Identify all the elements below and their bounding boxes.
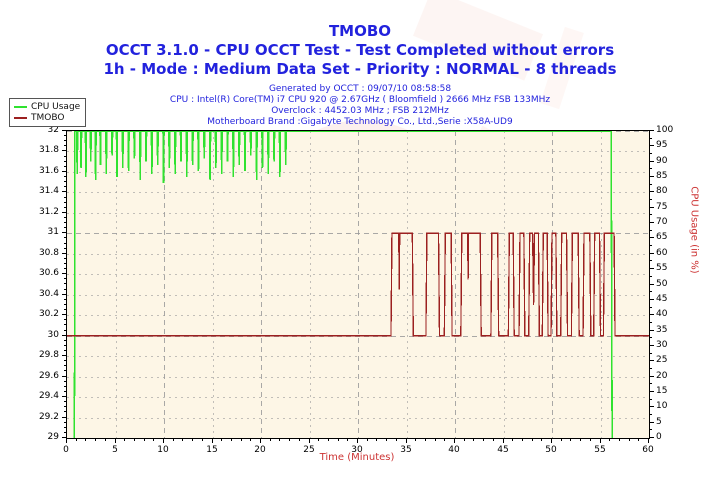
axis-tick-mark [650, 130, 652, 131]
axis-tick-mark [134, 439, 135, 441]
axis-tick-mark [64, 171, 66, 172]
axis-tick-mark [64, 324, 66, 325]
axis-tick-mark [650, 214, 652, 215]
axis-tick-mark [64, 263, 66, 264]
axis-tick-mark [570, 439, 571, 441]
axis-tick-mark [64, 386, 66, 387]
axis-tick-mark [64, 314, 66, 315]
axis-tick-mark [64, 227, 66, 228]
axis-tick-mark [650, 345, 652, 346]
x-axis-tick-label: 20 [254, 445, 265, 455]
axis-tick-mark [650, 307, 652, 308]
axis-tick-mark [650, 199, 652, 200]
axis-tick-mark [64, 406, 66, 407]
y-axis-right-tick-label: 95 [656, 140, 667, 150]
y-axis-left-tick-label: 31.4 [39, 186, 59, 196]
y-axis-right-tick-label: 5 [656, 417, 662, 427]
axis-tick-mark [650, 322, 652, 323]
axis-tick-mark [64, 253, 66, 254]
axis-tick-mark [64, 335, 66, 336]
axis-tick-mark [64, 391, 66, 392]
axis-tick-mark [144, 439, 145, 441]
axis-tick-mark [64, 299, 66, 300]
axis-tick-mark [192, 439, 193, 441]
axis-tick-mark [522, 439, 523, 441]
axis-tick-mark [64, 340, 66, 341]
axis-tick-mark [328, 439, 329, 441]
axis-tick-mark [153, 439, 154, 441]
axis-tick-mark [250, 439, 251, 441]
axis-tick-mark [64, 381, 66, 382]
axis-tick-mark [64, 411, 66, 412]
axis-tick-mark [279, 439, 280, 441]
y-axis-left-tick-label: 29.6 [39, 371, 59, 381]
axis-tick-mark [493, 439, 494, 441]
axis-tick-mark [64, 360, 66, 361]
axis-tick-mark [650, 360, 652, 361]
axis-tick-mark [650, 406, 652, 407]
axis-tick-mark [386, 439, 387, 441]
y-axis-left-tick-label: 30.4 [39, 289, 59, 299]
axis-tick-mark [376, 439, 377, 441]
y-axis-right-tick-label: 45 [656, 294, 667, 304]
axis-tick-mark [64, 130, 66, 131]
y-axis-left-tick-label: 29.4 [39, 391, 59, 401]
axis-tick-mark [241, 439, 242, 441]
report-subtitle-line2: 1h - Mode : Medium Data Set - Priority :… [0, 60, 720, 78]
axis-tick-mark [270, 439, 271, 441]
axis-tick-mark [64, 191, 66, 192]
axis-tick-mark [182, 439, 183, 441]
axis-tick-mark [64, 140, 66, 141]
axis-tick-mark [105, 439, 106, 441]
x-axis-tick-label: 5 [112, 445, 118, 455]
axis-tick-mark [64, 319, 66, 320]
legend-swatch-icon [14, 117, 27, 119]
x-axis-tick-label: 35 [400, 445, 411, 455]
axis-tick-mark [561, 439, 562, 441]
axis-tick-mark [124, 439, 125, 441]
axis-tick-mark [650, 253, 652, 254]
axis-tick-mark [64, 289, 66, 290]
y-axis-left-tick-label: 29.8 [39, 350, 59, 360]
x-axis-tick-label: 40 [448, 445, 459, 455]
legend-item-cpu-usage: CPU Usage [14, 101, 80, 112]
axis-tick-mark [64, 376, 66, 377]
y-axis-left-tick-label: 31.6 [39, 166, 59, 176]
axis-tick-mark [619, 439, 620, 441]
axis-tick-mark [551, 439, 552, 441]
axis-tick-mark [648, 439, 649, 441]
axis-tick-mark [425, 439, 426, 441]
axis-tick-mark [64, 309, 66, 310]
y-axis-left-tick-label: 31 [48, 227, 59, 237]
axis-tick-mark [650, 429, 652, 430]
y-axis-right-tick-label: 55 [656, 263, 667, 273]
axis-tick-mark [650, 414, 652, 415]
axis-tick-mark [64, 350, 66, 351]
y-axis-left-tick-label: 30 [48, 330, 59, 340]
axis-tick-mark [64, 181, 66, 182]
axis-tick-mark [202, 439, 203, 441]
axis-tick-mark [650, 168, 652, 169]
axis-tick-mark [64, 427, 66, 428]
axis-tick-mark [64, 417, 66, 418]
axis-tick-mark [64, 156, 66, 157]
axis-tick-mark [435, 439, 436, 441]
axis-tick-mark [64, 202, 66, 203]
motherboard-info: Motherboard Brand :Gigabyte Technology C… [0, 117, 720, 127]
axis-tick-mark [650, 399, 652, 400]
axis-tick-mark [318, 439, 319, 441]
axis-tick-mark [650, 337, 652, 338]
axis-tick-mark [609, 439, 610, 441]
axis-tick-mark [650, 161, 652, 162]
y-axis-left-tick-label: 30.8 [39, 248, 59, 258]
axis-tick-mark [444, 439, 445, 441]
axis-tick-mark [64, 432, 66, 433]
axis-tick-mark [454, 439, 455, 441]
axis-tick-mark [650, 145, 652, 146]
axis-tick-mark [650, 191, 652, 192]
chart-plot-area [66, 130, 650, 439]
axis-tick-mark [64, 150, 66, 151]
y-axis-right-tick-label: 10 [656, 401, 667, 411]
axis-tick-mark [464, 439, 465, 441]
axis-tick-mark [64, 176, 66, 177]
y-axis-right-tick-label: 40 [656, 309, 667, 319]
axis-tick-mark [650, 138, 652, 139]
axis-tick-mark [163, 439, 164, 441]
chart-legend: CPU Usage TMOBO [9, 98, 86, 127]
y-axis-left-tick-label: 29 [48, 432, 59, 442]
x-axis-tick-label: 55 [594, 445, 605, 455]
y-axis-right-tick-label: 30 [656, 340, 667, 350]
axis-tick-mark [650, 176, 652, 177]
axis-tick-mark [650, 330, 652, 331]
axis-tick-mark [289, 439, 290, 441]
y-axis-right-tick-label: 50 [656, 279, 667, 289]
axis-tick-mark [64, 232, 66, 233]
axis-tick-mark [64, 197, 66, 198]
y-axis-right-tick-label: 20 [656, 371, 667, 381]
axis-tick-mark [367, 439, 368, 441]
x-axis-tick-label: 0 [63, 445, 69, 455]
axis-tick-mark [650, 245, 652, 246]
y-axis-right-tick-label: 65 [656, 232, 667, 242]
y-axis-right-tick-label: 90 [656, 156, 667, 166]
axis-tick-mark [231, 439, 232, 441]
y-axis-right-tick-label: 35 [656, 325, 667, 335]
axis-tick-mark [650, 368, 652, 369]
y-axis-right-tick-label: 75 [656, 202, 667, 212]
axis-tick-mark [64, 217, 66, 218]
legend-label: TMOBO [31, 113, 64, 123]
axis-tick-mark [64, 212, 66, 213]
axis-tick-mark [650, 237, 652, 238]
axis-tick-mark [64, 283, 66, 284]
axis-tick-mark [64, 135, 66, 136]
x-axis-tick-label: 60 [642, 445, 653, 455]
report-subtitle-line1: OCCT 3.1.0 - CPU OCCT Test - Test Comple… [0, 41, 720, 59]
x-axis-tick-label: 15 [206, 445, 217, 455]
axis-tick-mark [396, 439, 397, 441]
axis-tick-mark [650, 376, 652, 377]
axis-tick-mark [532, 439, 533, 441]
axis-tick-mark [650, 284, 652, 285]
axis-tick-mark [347, 439, 348, 441]
axis-tick-mark [629, 439, 630, 441]
axis-tick-mark [483, 439, 484, 441]
axis-tick-mark [64, 370, 66, 371]
y-axis-left-tick-label: 29.2 [39, 412, 59, 422]
axis-tick-mark [650, 291, 652, 292]
axis-tick-mark [357, 439, 358, 441]
axis-tick-mark [650, 222, 652, 223]
y-axis-left-tick-label: 31.8 [39, 145, 59, 155]
axis-tick-mark [64, 294, 66, 295]
axis-tick-mark [66, 439, 67, 441]
axis-tick-mark [650, 383, 652, 384]
axis-tick-mark [64, 222, 66, 223]
axis-tick-mark [638, 439, 639, 441]
axis-tick-mark [338, 439, 339, 441]
axis-tick-mark [650, 353, 652, 354]
axis-tick-mark [64, 243, 66, 244]
axis-tick-mark [309, 439, 310, 441]
axis-tick-mark [64, 166, 66, 167]
axis-tick-mark [473, 439, 474, 441]
axis-tick-mark [650, 422, 652, 423]
axis-tick-mark [64, 248, 66, 249]
axis-tick-mark [64, 355, 66, 356]
axis-tick-mark [580, 439, 581, 441]
axis-tick-mark [173, 439, 174, 441]
axis-tick-mark [541, 439, 542, 441]
axis-tick-mark [650, 299, 652, 300]
y-axis-left-tick-label: 31.2 [39, 207, 59, 217]
axis-tick-mark [415, 439, 416, 441]
axis-tick-mark [650, 268, 652, 269]
chart-series-layer [67, 131, 649, 438]
axis-tick-mark [64, 345, 66, 346]
y-axis-left-tick-label: 30.6 [39, 268, 59, 278]
axis-tick-mark [64, 437, 66, 438]
axis-tick-mark [650, 230, 652, 231]
axis-tick-mark [64, 258, 66, 259]
axis-tick-mark [299, 439, 300, 441]
axis-tick-mark [212, 439, 213, 441]
axis-tick-mark [590, 439, 591, 441]
x-axis-tick-label: 50 [545, 445, 556, 455]
y-axis-left-tick-label: 30.2 [39, 309, 59, 319]
overclock-info: Overclock : 4452.03 MHz ; FSB 212MHz [0, 106, 720, 116]
axis-tick-mark [115, 439, 116, 441]
axis-tick-mark [64, 304, 66, 305]
axis-tick-mark [650, 276, 652, 277]
y-axis-right-tick-label: 80 [656, 186, 667, 196]
cpu-info: CPU : Intel(R) Core(TM) i7 CPU 920 @ 2.6… [0, 95, 720, 105]
axis-tick-mark [650, 207, 652, 208]
axis-tick-mark [64, 273, 66, 274]
axis-tick-mark [64, 422, 66, 423]
axis-tick-mark [64, 237, 66, 238]
y-axis-right-tick-label: 25 [656, 355, 667, 365]
axis-tick-mark [64, 186, 66, 187]
y-axis-right-tick-label: 60 [656, 248, 667, 258]
axis-tick-mark [600, 439, 601, 441]
y-axis-right-tick-label: 100 [656, 125, 673, 135]
axis-tick-mark [503, 439, 504, 441]
axis-tick-mark [650, 260, 652, 261]
axis-tick-mark [64, 268, 66, 269]
axis-tick-mark [64, 161, 66, 162]
legend-swatch-icon [14, 106, 27, 108]
axis-tick-mark [64, 207, 66, 208]
axis-tick-mark [64, 396, 66, 397]
axis-tick-mark [260, 439, 261, 441]
axis-tick-mark [512, 439, 513, 441]
page-title: TMOBO [0, 22, 720, 40]
axis-tick-mark [64, 145, 66, 146]
axis-tick-mark [64, 365, 66, 366]
axis-tick-mark [650, 184, 652, 185]
axis-tick-mark [76, 439, 77, 441]
legend-item-tmobo: TMOBO [14, 112, 80, 123]
axis-tick-mark [64, 330, 66, 331]
axis-tick-mark [650, 391, 652, 392]
y-axis-right-tick-label: 70 [656, 217, 667, 227]
x-axis-tick-label: 25 [303, 445, 314, 455]
y-axis-right-tick-label: 15 [656, 386, 667, 396]
axis-tick-mark [650, 314, 652, 315]
axis-tick-mark [221, 439, 222, 441]
y-axis-right-title: CPU Usage (in %) [689, 170, 700, 290]
axis-tick-mark [406, 439, 407, 441]
x-axis-tick-label: 10 [157, 445, 168, 455]
legend-label: CPU Usage [31, 102, 80, 112]
x-axis-tick-label: 45 [497, 445, 508, 455]
x-axis-tick-label: 30 [351, 445, 362, 455]
axis-tick-mark [650, 437, 652, 438]
axis-tick-mark [85, 439, 86, 441]
axis-tick-mark [64, 401, 66, 402]
generated-timestamp: Generated by OCCT : 09/07/10 08:58:58 [0, 84, 720, 94]
axis-tick-mark [650, 153, 652, 154]
y-axis-right-tick-label: 85 [656, 171, 667, 181]
y-axis-right-tick-label: 0 [656, 432, 662, 442]
axis-tick-mark [64, 278, 66, 279]
axis-tick-mark [95, 439, 96, 441]
occt-report-window: ⋮ TMOBO OCCT 3.1.0 - CPU OCCT Test - Tes… [0, 0, 720, 480]
